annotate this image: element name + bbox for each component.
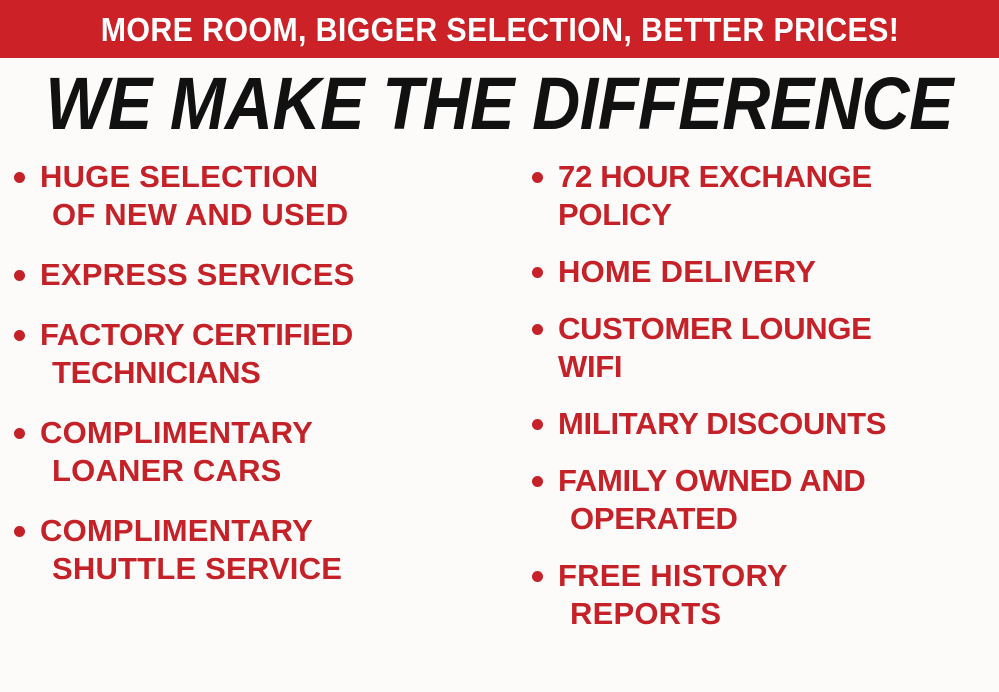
list-item-line: LOANER CARS xyxy=(40,452,512,490)
list-item-line: FREE HISTORY xyxy=(558,557,999,595)
list-item: 72 HOUR EXCHANGE POLICY xyxy=(532,158,999,234)
list-item-line: OF NEW AND USED xyxy=(40,196,512,234)
list-item: COMPLIMENTARY LOANER CARS xyxy=(14,414,512,490)
list-item-text: COMPLIMENTARY LOANER CARS xyxy=(40,414,512,490)
list-item-line: FACTORY CERTIFIED xyxy=(40,316,512,354)
list-item-line: MILITARY DISCOUNTS xyxy=(558,405,999,443)
list-item: HUGE SELECTION OF NEW AND USED xyxy=(14,158,512,234)
list-item-text: CUSTOMER LOUNGE WIFI xyxy=(558,310,999,386)
list-item-text: MILITARY DISCOUNTS xyxy=(558,405,999,443)
bullet-dot-icon xyxy=(532,324,543,335)
bullet-dot-icon xyxy=(532,476,543,487)
list-item-text: 72 HOUR EXCHANGE POLICY xyxy=(558,158,999,234)
list-item-line: TECHNICIANS xyxy=(40,354,512,392)
list-item-text: FREE HISTORY REPORTS xyxy=(558,557,999,633)
bullet-dot-icon xyxy=(532,267,543,278)
list-item-text: HUGE SELECTION OF NEW AND USED xyxy=(40,158,512,234)
headline-container: WE MAKE THE DIFFERENCE xyxy=(0,62,999,146)
advertisement-banner: MORE ROOM, BIGGER SELECTION, BETTER PRIC… xyxy=(0,0,999,692)
bullet-dot-icon xyxy=(14,172,25,183)
promo-banner: MORE ROOM, BIGGER SELECTION, BETTER PRIC… xyxy=(0,0,999,58)
list-item-text: EXPRESS SERVICES xyxy=(40,256,512,294)
bullet-dot-icon xyxy=(14,270,25,281)
bullet-dot-icon xyxy=(14,428,25,439)
list-item: HOME DELIVERY xyxy=(532,253,999,291)
list-item-line: COMPLIMENTARY xyxy=(40,414,512,452)
bullet-dot-icon xyxy=(532,172,543,183)
list-item: FREE HISTORY REPORTS xyxy=(532,557,999,633)
list-item-line: FAMILY OWNED AND xyxy=(558,462,999,500)
list-item-line: EXPRESS SERVICES xyxy=(40,256,512,294)
list-item-text: COMPLIMENTARY SHUTTLE SERVICE xyxy=(40,512,512,588)
list-item-line: COMPLIMENTARY xyxy=(40,512,512,550)
bullet-dot-icon xyxy=(532,419,543,430)
list-item: CUSTOMER LOUNGE WIFI xyxy=(532,310,999,386)
list-item: COMPLIMENTARY SHUTTLE SERVICE xyxy=(14,512,512,588)
list-item-line: HUGE SELECTION xyxy=(40,158,512,196)
list-item-line: SHUTTLE SERVICE xyxy=(40,550,512,588)
list-item-line: REPORTS xyxy=(558,595,999,633)
bullet-dot-icon xyxy=(532,571,543,582)
list-item-text: FAMILY OWNED AND OPERATED xyxy=(558,462,999,538)
list-item: MILITARY DISCOUNTS xyxy=(532,405,999,443)
list-item-line: POLICY xyxy=(558,196,999,234)
list-item-text: HOME DELIVERY xyxy=(558,253,999,291)
list-item: FAMILY OWNED AND OPERATED xyxy=(532,462,999,538)
page-title: WE MAKE THE DIFFERENCE xyxy=(46,67,954,141)
features-column-right: 72 HOUR EXCHANGE POLICY HOME DELIVERY CU… xyxy=(512,158,999,692)
list-item: FACTORY CERTIFIED TECHNICIANS xyxy=(14,316,512,392)
list-item-line: HOME DELIVERY xyxy=(558,253,999,291)
list-item-line: CUSTOMER LOUNGE xyxy=(558,310,999,348)
list-item-line: 72 HOUR EXCHANGE xyxy=(558,158,999,196)
bullet-dot-icon xyxy=(14,526,25,537)
list-item-text: FACTORY CERTIFIED TECHNICIANS xyxy=(40,316,512,392)
features-columns: HUGE SELECTION OF NEW AND USED EXPRESS S… xyxy=(0,158,999,692)
list-item: EXPRESS SERVICES xyxy=(14,256,512,294)
features-column-left: HUGE SELECTION OF NEW AND USED EXPRESS S… xyxy=(0,158,512,692)
list-item-line: WIFI xyxy=(558,348,999,386)
bullet-dot-icon xyxy=(14,330,25,341)
list-item-line: OPERATED xyxy=(558,500,999,538)
promo-banner-text: MORE ROOM, BIGGER SELECTION, BETTER PRIC… xyxy=(100,13,898,46)
